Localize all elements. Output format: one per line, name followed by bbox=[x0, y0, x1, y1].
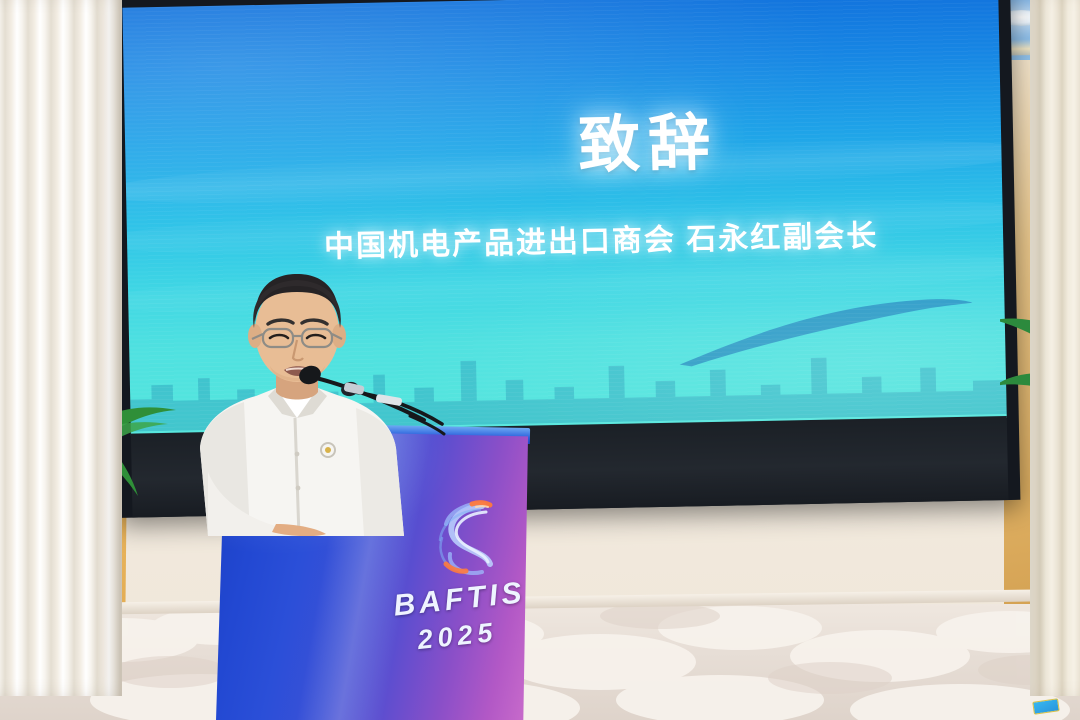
screen-title: 致辞 bbox=[124, 86, 1002, 194]
microphone-head-icon bbox=[297, 363, 323, 387]
carpet-floor bbox=[0, 604, 1080, 720]
bridge-arc-swoosh-icon bbox=[674, 293, 975, 369]
stage-scene: 致辞 中国机电产品进出口商会 石永红副会长 bbox=[0, 0, 1080, 720]
white-drape-curtain-left bbox=[0, 0, 122, 696]
cream-drape-curtain-right bbox=[1030, 0, 1080, 696]
cloud-pattern-carpet-icon bbox=[0, 604, 1080, 720]
gooseneck-microphone-pair bbox=[292, 362, 532, 452]
